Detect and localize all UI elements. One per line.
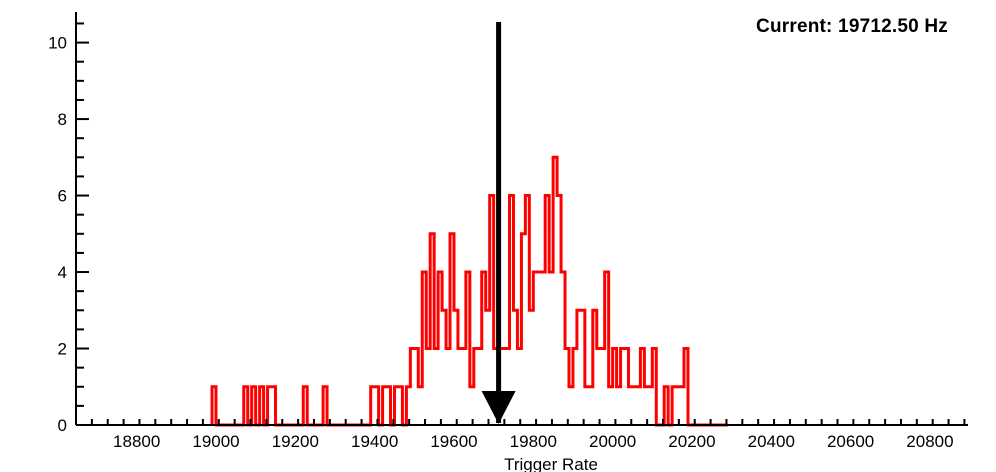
y-tick-label: 2 [58,340,67,359]
x-axis-title: Trigger Rate [504,455,598,472]
x-tick-label: 20200 [668,432,715,451]
y-tick-label: 4 [58,263,67,282]
x-tick-label: 19200 [272,432,319,451]
x-tick-label: 19000 [192,432,239,451]
x-tick-label: 20400 [748,432,795,451]
x-tick-label: 20800 [906,432,953,451]
x-tick-label: 20000 [589,432,636,451]
x-tick-label: 20600 [827,432,874,451]
x-tick-label: 19400 [351,432,398,451]
y-tick-label: 0 [58,416,67,435]
x-tick-label: 19800 [510,432,557,451]
y-tick-label: 10 [48,34,67,53]
current-marker-arrowhead [482,391,516,424]
x-tick-label: 19600 [430,432,477,451]
histogram-outline [212,157,728,425]
x-tick-label: 18800 [113,432,160,451]
plot-area: 1880019000192001940019600198002000020200… [0,0,996,472]
y-tick-label: 6 [58,187,67,206]
current-rate-label: Current: 19712.50 Hz [756,16,948,38]
histogram-canvas: 1880019000192001940019600198002000020200… [0,0,996,472]
y-tick-label: 8 [58,110,67,129]
